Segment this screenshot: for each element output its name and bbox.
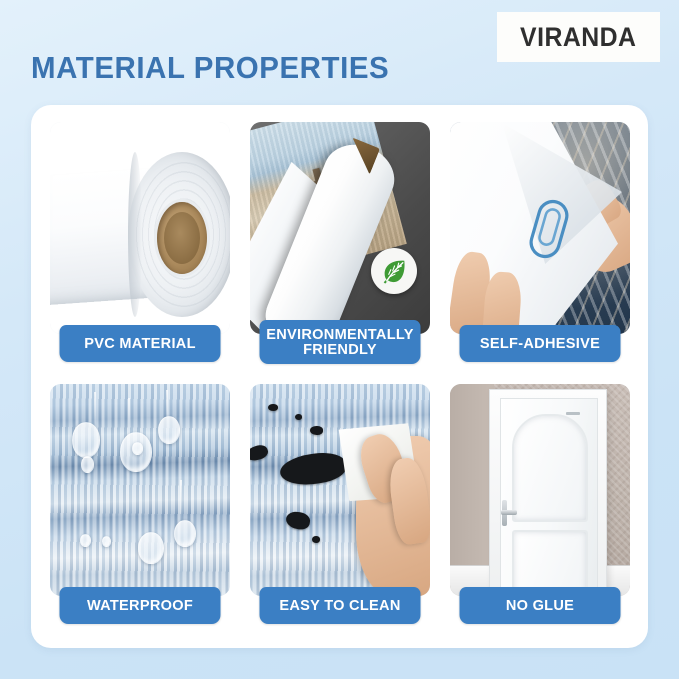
feature-card-no-glue[interactable]: NO GLUE	[450, 384, 630, 624]
feature-card-self-adhesive[interactable]: SELF-ADHESIVE	[450, 122, 630, 362]
feature-label: WATERPROOF	[59, 587, 220, 624]
page-title: MATERIAL PROPERTIES	[31, 50, 389, 86]
feature-label: ENVIRONMENTALLY FRIENDLY	[259, 320, 420, 364]
water-droplets-photo	[50, 384, 230, 596]
feature-card-environmentally-friendly[interactable]: ENVIRONMENTALLY FRIENDLY	[250, 122, 430, 362]
brand-name: VIRANDA	[520, 22, 636, 53]
wiping-cloth-photo	[250, 384, 430, 596]
leaf-icon	[371, 248, 417, 294]
pvc-roll-photo	[50, 122, 230, 334]
feature-label: EASY TO CLEAN	[259, 587, 420, 624]
feature-grid: PVC MATERIAL	[50, 122, 630, 633]
feature-card-easy-to-clean[interactable]: EASY TO CLEAN	[250, 384, 430, 624]
white-door-photo	[450, 384, 630, 596]
feature-label: SELF-ADHESIVE	[459, 325, 620, 362]
peeling-sheet-photo	[450, 122, 630, 334]
feature-label: PVC MATERIAL	[59, 325, 220, 362]
feature-card-waterproof[interactable]: WATERPROOF	[50, 384, 230, 624]
brand-logo: VIRANDA	[497, 12, 660, 62]
feature-label: NO GLUE	[459, 587, 620, 624]
rolled-wallpaper-photo	[250, 122, 430, 334]
infographic-page: VIRANDA MATERIAL PROPERTIES PVC MATERIAL	[0, 0, 679, 679]
feature-card-pvc-material[interactable]: PVC MATERIAL	[50, 122, 230, 362]
